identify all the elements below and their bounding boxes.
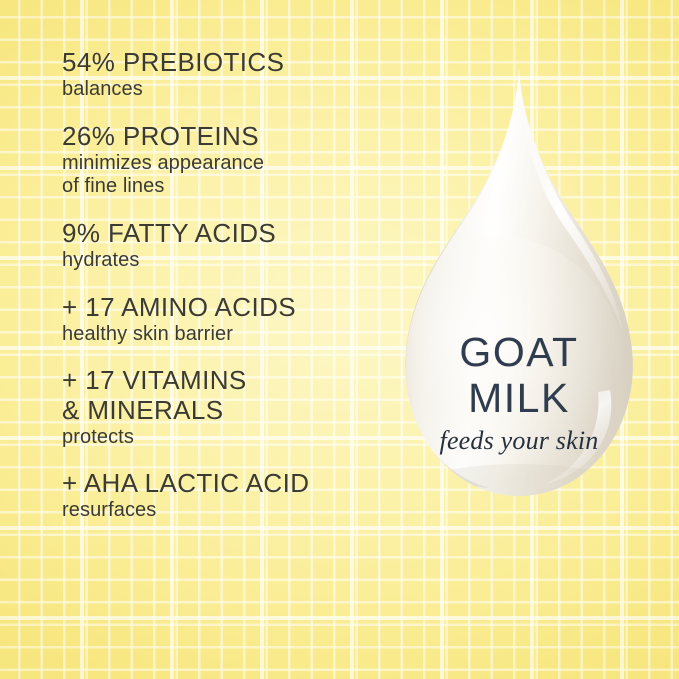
product-infographic: 54% PREBIOTICS balances 26% PROTEINS min… xyxy=(0,0,679,679)
ingredient-title: + 17 VITAMINS & MINERALS xyxy=(62,366,382,424)
ingredient-title: 26% PROTEINS xyxy=(62,122,382,151)
ingredient-title: + 17 AMINO ACIDS xyxy=(62,293,382,322)
milk-droplet-graphic: GOAT MILK feeds your skin xyxy=(374,60,664,550)
ingredient-list: 54% PREBIOTICS balances 26% PROTEINS min… xyxy=(62,48,382,543)
ingredient-benefit: healthy skin barrier xyxy=(62,323,382,347)
ingredient-title: 9% FATTY ACIDS xyxy=(62,219,382,248)
ingredient-benefit: hydrates xyxy=(62,249,382,273)
droplet-base-shade xyxy=(411,464,627,516)
ingredient-benefit: resurfaces xyxy=(62,499,382,523)
list-item: 26% PROTEINS minimizes appearance of fin… xyxy=(62,122,382,199)
list-item: + AHA LACTIC ACID resurfaces xyxy=(62,469,382,523)
list-item: + 17 VITAMINS & MINERALS protects xyxy=(62,366,382,449)
ingredient-title: + AHA LACTIC ACID xyxy=(62,469,382,498)
ingredient-benefit: balances xyxy=(62,78,382,102)
ingredient-title: 54% PREBIOTICS xyxy=(62,48,382,77)
list-item: 54% PREBIOTICS balances xyxy=(62,48,382,102)
droplet-icon xyxy=(374,60,664,550)
list-item: 9% FATTY ACIDS hydrates xyxy=(62,219,382,273)
ingredient-benefit: minimizes appearance of fine lines xyxy=(62,152,382,199)
list-item: + 17 AMINO ACIDS healthy skin barrier xyxy=(62,293,382,347)
ingredient-benefit: protects xyxy=(62,426,382,450)
